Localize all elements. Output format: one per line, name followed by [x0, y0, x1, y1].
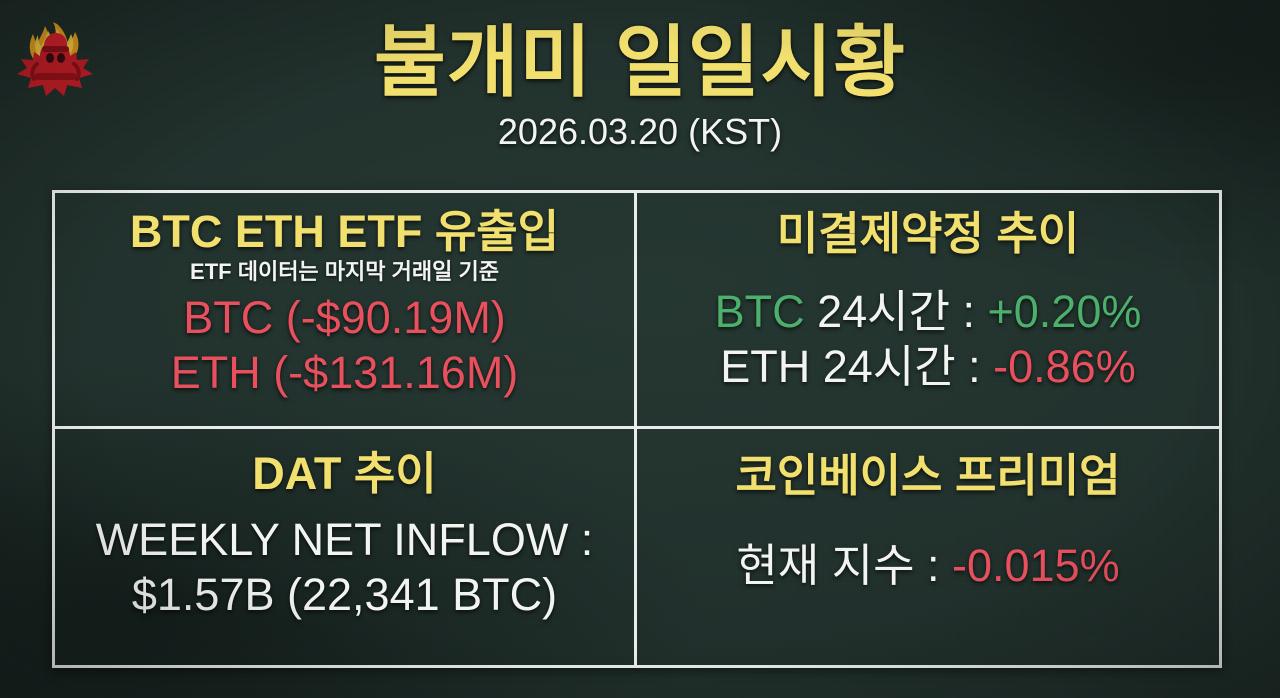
open-interest-eth-period: 24시간 : [810, 341, 993, 392]
report-date: 2026.03.20 (KST) [0, 108, 1280, 152]
open-interest-btc-value: +0.20% [988, 286, 1142, 337]
coinbase-premium-row: 현재 지수 : -0.015% [736, 539, 1119, 594]
coinbase-premium-label: 현재 지수 : [736, 540, 952, 591]
dat-weekly-net-inflow-value: $1.57B (22,341 BTC) [132, 568, 557, 623]
card-etf-flows-note: ETF 데이터는 마지막 거래일 기준 [190, 259, 499, 284]
card-coinbase-premium: 코인베이스 프리미엄 현재 지수 : -0.015% [637, 429, 1219, 665]
card-coinbase-premium-title: 코인베이스 프리미엄 [735, 451, 1120, 501]
card-open-interest: 미결제약정 추이 BTC 24시간 : +0.20% ETH 24시간 : -0… [637, 193, 1219, 429]
open-interest-btc-asset: BTC [715, 286, 805, 337]
coinbase-premium-value: -0.015% [952, 540, 1120, 591]
fire-ant-logo-icon [13, 16, 97, 102]
open-interest-eth-value: -0.86% [993, 341, 1136, 392]
card-open-interest-title: 미결제약정 추이 [777, 209, 1079, 259]
card-dat-trend: DAT 추이 WEEKLY NET INFLOW : $1.57B (22,34… [55, 429, 637, 665]
open-interest-eth-row: ETH 24시간 : -0.86% [720, 340, 1135, 395]
open-interest-btc-row: BTC 24시간 : +0.20% [715, 285, 1142, 340]
open-interest-eth-asset: ETH [720, 341, 810, 392]
metrics-grid: BTC ETH ETF 유출입 ETF 데이터는 마지막 거래일 기준 BTC … [52, 190, 1222, 668]
card-etf-flows: BTC ETH ETF 유출입 ETF 데이터는 마지막 거래일 기준 BTC … [55, 193, 637, 429]
etf-btc-flow-value: BTC (-$90.19M) [183, 291, 506, 346]
page-title: 불개미 일일시황 [0, 0, 1280, 108]
card-etf-flows-title: BTC ETH ETF 유출입 [130, 207, 559, 257]
card-dat-trend-title: DAT 추이 [252, 449, 436, 499]
report-header: 불개미 일일시황 2026.03.20 (KST) [0, 0, 1280, 182]
daily-market-report-card: 불개미 일일시황 2026.03.20 (KST) BTC ETH ETF 유출… [0, 0, 1280, 698]
open-interest-btc-period: 24시간 : [805, 286, 988, 337]
etf-eth-flow-value: ETH (-$131.16M) [171, 346, 519, 401]
dat-weekly-net-inflow-label: WEEKLY NET INFLOW : [96, 513, 594, 568]
